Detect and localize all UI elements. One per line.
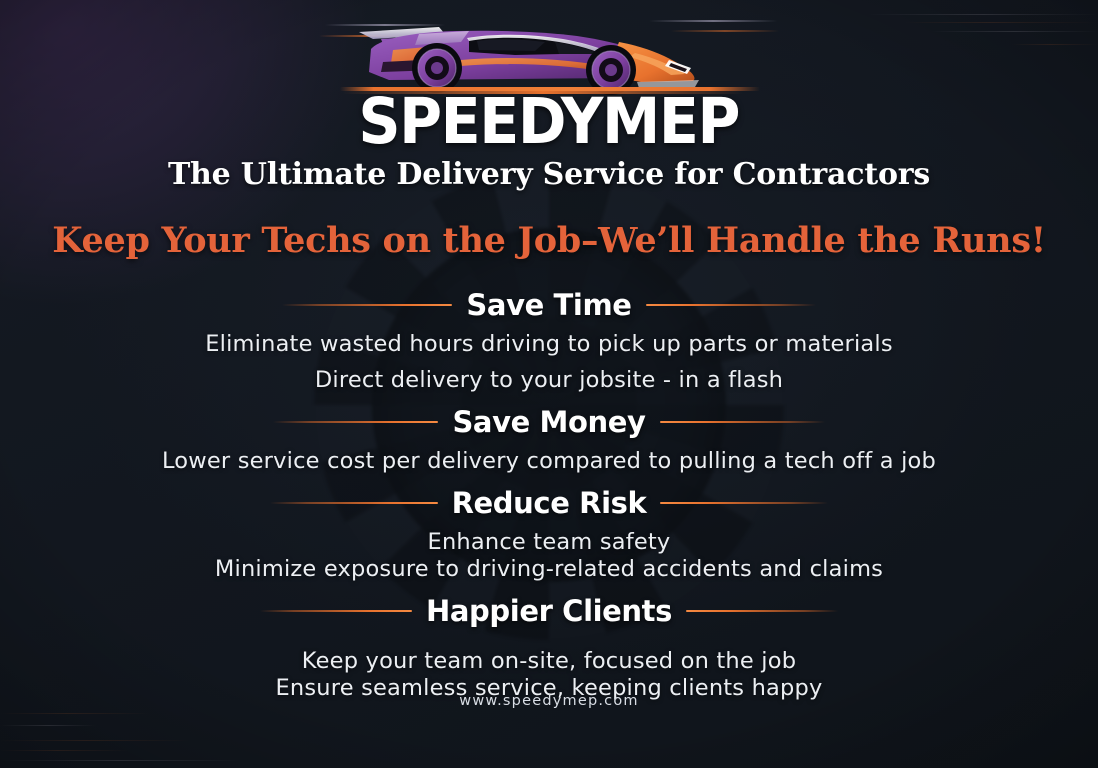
wordmark-container: SPEEDYMEP	[344, 92, 753, 152]
brand-wordmark: SPEEDYMEP	[359, 92, 740, 152]
section-header: Save Time	[0, 288, 1098, 322]
poster-content: SPEEDYMEP The Ultimate Delivery Service …	[0, 0, 1098, 768]
section-line: Enhance team safety	[0, 529, 1098, 555]
section-lines: Enhance team safety Minimize exposure to…	[0, 529, 1098, 582]
section-title: Save Time	[466, 288, 631, 322]
section-line: Minimize exposure to driving-related acc…	[0, 556, 1098, 582]
section-save-money: Save Money Lower service cost per delive…	[0, 405, 1098, 474]
rule-left-icon	[260, 610, 412, 612]
subtitle: The Ultimate Delivery Service for Contra…	[0, 157, 1098, 192]
rule-right-icon	[660, 421, 825, 423]
brand-logo: SPEEDYMEP	[0, 8, 1098, 152]
section-header: Reduce Risk	[0, 486, 1098, 520]
rule-left-icon	[273, 421, 438, 423]
section-happier-clients: Happier Clients Keep your team on-site, …	[0, 594, 1098, 701]
rule-right-icon	[646, 304, 816, 306]
section-header: Save Money	[0, 405, 1098, 439]
section-line: Lower service cost per delivery compared…	[0, 448, 1098, 474]
section-header: Happier Clients	[0, 594, 1098, 628]
section-lines: Lower service cost per delivery compared…	[0, 448, 1098, 474]
section-line: Eliminate wasted hours driving to pick u…	[0, 331, 1098, 357]
headline: Keep Your Techs on the Job–We’ll Handle …	[0, 220, 1098, 261]
section-title: Happier Clients	[426, 594, 672, 628]
section-line: Direct delivery to your jobsite - in a f…	[0, 367, 1098, 393]
rule-right-icon	[686, 610, 838, 612]
section-lines: Eliminate wasted hours driving to pick u…	[0, 331, 1098, 393]
benefits-list: Save Time Eliminate wasted hours driving…	[0, 288, 1098, 701]
section-title: Save Money	[452, 405, 645, 439]
section-reduce-risk: Reduce Risk Enhance team safety Minimize…	[0, 486, 1098, 582]
rule-left-icon	[282, 304, 452, 306]
rule-left-icon	[270, 502, 438, 504]
website-url[interactable]: www.speedymep.com	[0, 693, 1098, 709]
section-line: Keep your team on-site, focused on the j…	[0, 648, 1098, 674]
rule-right-icon	[660, 502, 828, 504]
section-title: Reduce Risk	[452, 486, 647, 520]
section-save-time: Save Time Eliminate wasted hours driving…	[0, 288, 1098, 393]
poster-canvas: SPEEDYMEP The Ultimate Delivery Service …	[0, 0, 1098, 768]
